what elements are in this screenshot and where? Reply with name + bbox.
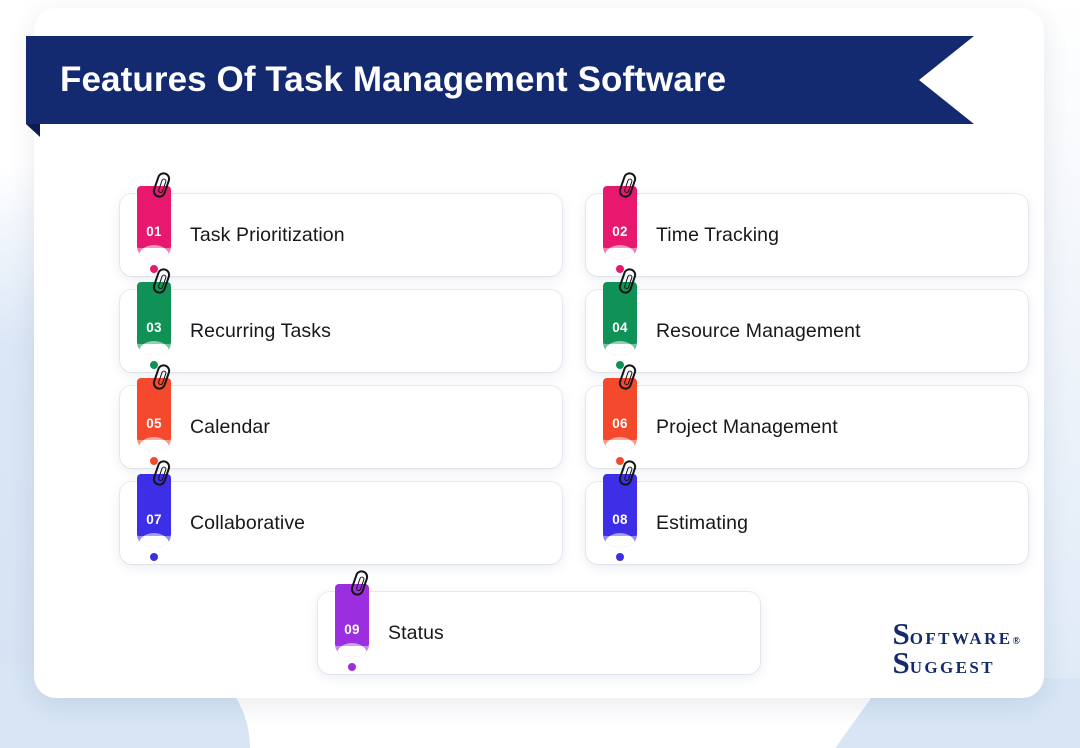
feature-number: 06	[612, 416, 628, 431]
page-title: Features Of Task Management Software	[60, 36, 726, 124]
logo-line-one: S OFTWARE ®	[893, 620, 1021, 649]
pin-marker: 09	[335, 584, 369, 682]
feature-label: Estimating	[656, 512, 748, 535]
pin-foot	[137, 530, 171, 547]
feature-card[interactable]: 02Time Tracking	[586, 194, 1028, 276]
background-right-panel	[1044, 0, 1080, 700]
pin-foot	[603, 338, 637, 355]
logo-text-software: OFTWARE	[910, 631, 1013, 647]
feature-number: 08	[612, 512, 628, 527]
feature-label: Project Management	[656, 416, 838, 439]
feature-number: 04	[612, 320, 628, 335]
pin-foot	[137, 434, 171, 451]
logo-line-two: S UGGEST	[893, 649, 1021, 678]
feature-label: Collaborative	[190, 512, 305, 535]
pin-foot	[603, 434, 637, 451]
feature-card[interactable]: 04Resource Management	[586, 290, 1028, 372]
feature-label: Task Prioritization	[190, 224, 345, 247]
logo-text-suggest: UGGEST	[910, 660, 995, 676]
feature-number: 03	[146, 320, 162, 335]
feature-card[interactable]: 07Collaborative	[120, 482, 562, 564]
registered-trademark-icon: ®	[1013, 637, 1020, 646]
softwaresuggest-logo: S OFTWARE ® S UGGEST	[893, 620, 1021, 678]
feature-number: 01	[146, 224, 162, 239]
pin-foot	[137, 338, 171, 355]
feature-card[interactable]: 06Project Management	[586, 386, 1028, 468]
feature-grid: 01Task Prioritization02Time Tracking03Re…	[120, 194, 1028, 564]
feature-number: 02	[612, 224, 628, 239]
pin-foot	[603, 242, 637, 259]
pin-marker: 07	[137, 474, 171, 572]
pin-foot	[603, 530, 637, 547]
pin-dot	[150, 553, 158, 561]
pin-foot	[335, 640, 369, 657]
pin-foot	[137, 242, 171, 259]
header-ribbon: Features Of Task Management Software	[26, 36, 974, 124]
feature-label: Status	[388, 622, 444, 645]
feature-label: Recurring Tasks	[190, 320, 331, 343]
logo-capital-s-one: S	[893, 620, 910, 649]
infographic-canvas: 01Task Prioritization02Time Tracking03Re…	[0, 0, 1080, 748]
feature-label: Time Tracking	[656, 224, 779, 247]
pin-dot	[348, 663, 356, 671]
feature-card[interactable]: 01Task Prioritization	[120, 194, 562, 276]
feature-card[interactable]: 03Recurring Tasks	[120, 290, 562, 372]
feature-card[interactable]: 08Estimating	[586, 482, 1028, 564]
feature-label: Resource Management	[656, 320, 861, 343]
feature-card[interactable]: 09Status	[318, 592, 760, 674]
feature-number: 05	[146, 416, 162, 431]
feature-number: 09	[344, 622, 360, 637]
feature-number: 07	[146, 512, 162, 527]
feature-card[interactable]: 05Calendar	[120, 386, 562, 468]
feature-label: Calendar	[190, 416, 270, 439]
logo-capital-s-two: S	[893, 649, 910, 678]
pin-dot	[616, 553, 624, 561]
pin-marker: 08	[603, 474, 637, 572]
